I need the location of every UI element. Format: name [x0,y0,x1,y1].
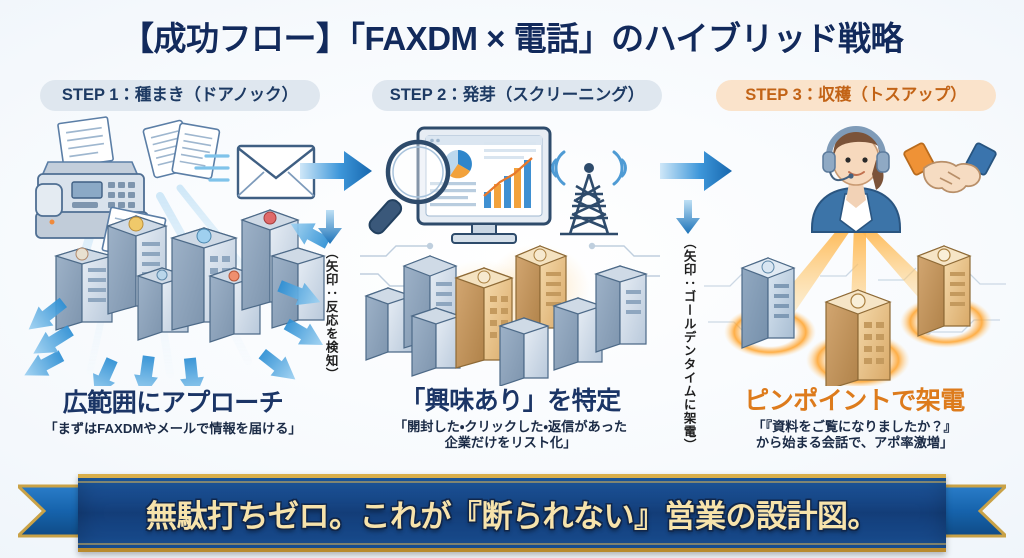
step-2-caption: 「興味あり」を特定 「開封した・クリックした・返信があった 企業だけをリスト化」 [358,388,663,452]
highlighted-building [918,246,970,336]
step-1-caption: 広範囲にアプローチ 「まずはFAXDMやメールで情報を届ける」 [8,390,338,437]
step-2-art-svg [360,116,660,386]
page-title: 【成功フロー】「FAXDM × 電話」のハイブリッド戦略 [0,12,1024,60]
call-center-agent-icon [812,128,900,232]
step-2-badge: STEP 2：発芽（スクリーニング） [372,80,662,111]
bottom-ribbon: 無駄打ちゼロ。これが『断られない』営業の設計図。 [0,466,1024,552]
step-1-art-svg [20,116,330,386]
step-2-subtitle-line-1: 「開封した・クリックした・返信があった [358,419,663,436]
step-2-illustration [360,116,660,386]
step-1-subtitle: 「まずはFAXDMやメールで情報を届ける」 [8,421,338,438]
step-3-subtitle: 「『資料をご覧になりましたか？』 から始まる会話で、アポ率激増」 [692,419,1017,452]
step-2-subtitle: 「開封した・クリックした・返信があった 企業だけをリスト化」 [358,419,663,452]
step-1-headline: 広範囲にアプローチ [8,390,338,418]
step-3-subtitle-line-1: 「『資料をご覧になりましたか？』 [692,419,1017,436]
step-3-subtitle-line-2: から始まる会話で、アポ率激増」 [692,435,1017,452]
step-1-badge: STEP 1：種まき（ドアノック） [40,80,320,111]
step-3-headline: ピンポイントで架電 [692,388,1017,416]
ribbon-text: 無駄打ちゼロ。これが『断られない』営業の設計図。 [146,491,878,536]
step-3-badge: STEP 3：収穫（トスアップ） [716,80,996,111]
handshake-icon [903,142,997,192]
down-arrow-icon [675,200,701,234]
step-2-subtitle-line-2: 企業だけをリスト化」 [358,435,663,452]
step-2-headline: 「興味あり」を特定 [358,388,663,416]
connector-1-label: （矢印：反応を検知） [323,246,336,381]
document-icon [143,120,220,179]
highlighted-building [826,290,890,386]
highlighted-building [742,258,794,348]
down-arrow-icon [317,210,343,244]
infographic-canvas: 【成功フロー】「FAXDM × 電話」のハイブリッド戦略 STEP 1：種まき（… [0,0,1024,558]
step-1-illustration [20,116,330,386]
connector-1: （矢印：反応を検知） [310,210,350,381]
step-3-caption: ピンポイントで架電 「『資料をご覧になりましたか？』 から始まる会話で、アポ率激… [692,388,1017,452]
step-3-art-svg [700,116,1010,386]
signal-tower-icon [553,152,626,234]
step-3-illustration [700,116,1010,386]
ribbon-banner: 無駄打ちゼロ。これが『断られない』営業の設計図。 [78,474,946,552]
